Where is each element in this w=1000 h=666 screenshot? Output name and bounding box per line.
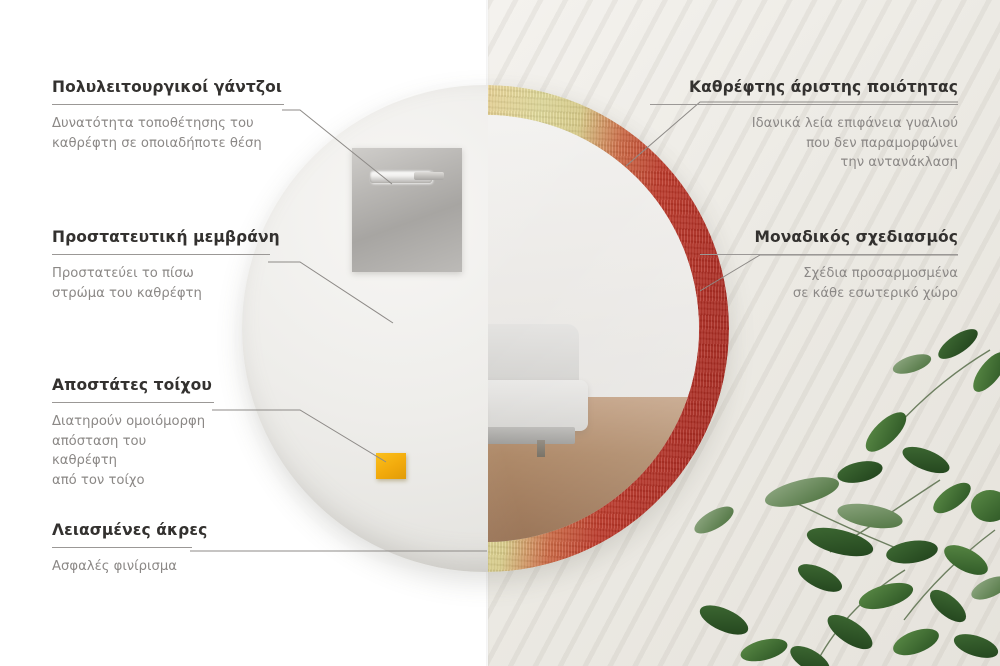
- callout-multifunctional-hooks: Πολυλειτουργικοί γάντζοι Δυνατότητα τοπο…: [52, 78, 284, 153]
- decorative-plant-foliage: [690, 320, 1000, 666]
- callout-divider: [700, 254, 958, 255]
- hanging-hook-plate: [352, 148, 462, 272]
- callout-divider: [650, 104, 958, 105]
- callout-title: Καθρέφτης άριστης ποιότητας: [650, 78, 958, 96]
- callout-description: Δυνατότητα τοποθέτησης του καθρέφτη σε ο…: [52, 114, 284, 153]
- callout-smoothed-edges: Λειασμένες άκρες Ασφαλές φινίρισμα: [52, 521, 192, 577]
- callout-divider: [52, 254, 270, 255]
- callout-divider: [52, 547, 192, 548]
- callout-description: Ιδανικά λεία επιφάνεια γυαλιού που δεν π…: [650, 114, 958, 173]
- callout-title: Λειασμένες άκρες: [52, 521, 192, 539]
- callout-wall-spacers: Αποστάτες τοίχου Διατηρούν ομοιόμορφη απ…: [52, 376, 214, 490]
- callout-description: Ασφαλές φινίρισμα: [52, 557, 192, 577]
- callout-description: Διατηρούν ομοιόμορφη απόσταση του καθρέφ…: [52, 412, 214, 490]
- callout-divider: [52, 104, 284, 105]
- callout-title: Προστατευτική μεμβράνη: [52, 228, 270, 246]
- callout-protective-membrane: Προστατευτική μεμβράνη Προστατεύει το πί…: [52, 228, 270, 303]
- hook-slot-icon: [370, 170, 432, 183]
- callout-unique-design: Μοναδικός σχεδιασμός Σχέδια προσαρμοσμέν…: [700, 228, 958, 303]
- callout-title: Μοναδικός σχεδιασμός: [700, 228, 958, 246]
- callout-top-quality-mirror: Καθρέφτης άριστης ποιότητας Ιδανικά λεία…: [650, 78, 958, 173]
- reflected-sofa-leg: [537, 440, 546, 457]
- yellow-wall-spacer: [376, 453, 406, 479]
- infographic-canvas: Πολυλειτουργικοί γάντζοι Δυνατότητα τοπο…: [0, 0, 1000, 666]
- callout-title: Πολυλειτουργικοί γάντζοι: [52, 78, 284, 96]
- callout-divider: [52, 402, 214, 403]
- callout-description: Σχέδια προσαρμοσμένα σε κάθε εσωτερικό χ…: [700, 264, 958, 303]
- callout-description: Προστατεύει το πίσω στρώμα του καθρέφτη: [52, 264, 270, 303]
- callout-title: Αποστάτες τοίχου: [52, 376, 214, 394]
